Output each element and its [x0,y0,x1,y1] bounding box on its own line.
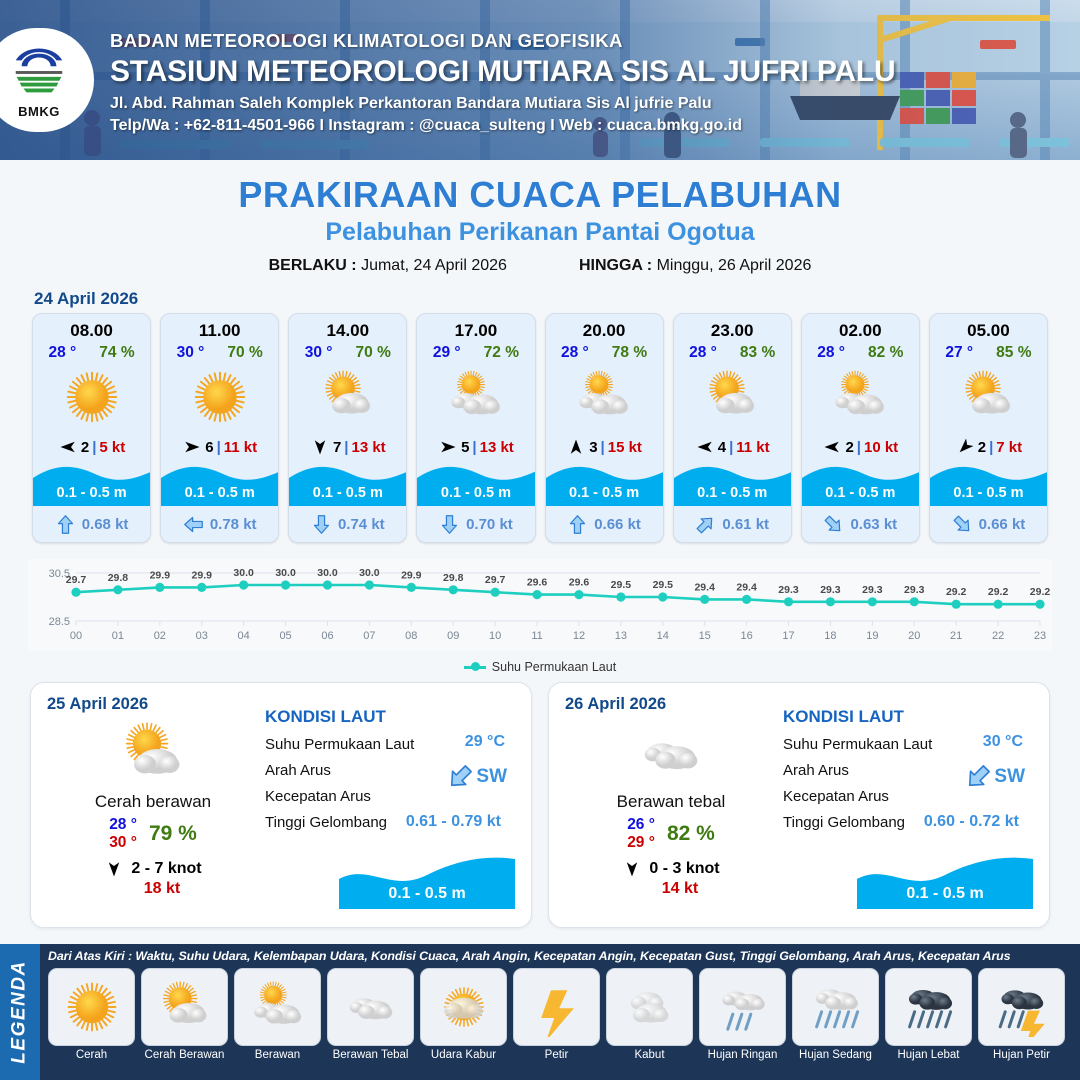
wind-direction-icon [822,438,842,456]
svg-text:16: 16 [740,630,752,642]
card-gust-speed: 11 kt [736,439,769,456]
chart-legend: Suhu Permukaan Laut [28,660,1052,674]
day-temp-block: 28 ° 30 ° 79 % [47,816,259,852]
card-wave-band: 0.1 - 0.5 m [674,462,791,506]
svg-text:29.4: 29.4 [694,581,715,593]
card-time: 02.00 [802,314,919,341]
card-wave-height: 0.1 - 0.5 m [33,485,150,501]
legend-item: Hujan Lebat [885,968,972,1061]
legend-item-label: Cerah [48,1049,135,1061]
forecast-card: 23.00 28 ° 83 % 4 | 11 kt 0.1 - 0.5 m [673,313,792,543]
day-wind-range: 0 - 3 knot [649,860,719,878]
card-temperature: 28 ° [817,344,845,362]
card-humidity: 70 % [227,344,262,362]
legend-item-label: Kabut [606,1049,693,1061]
legend-item-label: Berawan [234,1049,321,1061]
card-wind-speed: 2 [845,439,853,456]
sst-value: 29 °C [465,733,505,751]
card-wave-band: 0.1 - 0.5 m [33,462,150,506]
card-wind-row: 2 | 10 kt [802,432,919,462]
card-time: 05.00 [930,314,1047,341]
card-wave-height: 0.1 - 0.5 m [930,485,1047,501]
card-wave-height: 0.1 - 0.5 m [546,485,663,501]
daily-forecast-panel: 26 April 2026 Berawan tebal 26 ° 29 ° 82… [548,682,1050,928]
card-temp-humidity: 29 ° 72 % [417,341,534,362]
card-wind-speed: 7 [333,439,341,456]
legend-note: Dari Atas Kiri : Waktu, Suhu Udara, Kele… [48,949,1074,963]
org-name: BADAN METEOROLOGI KLIMATOLOGI DAN GEOFIS… [110,30,895,52]
legend-item: Cerah Berawan [141,968,228,1061]
card-current-speed: 0.70 kt [466,516,513,533]
forecast-card: 02.00 28 ° 82 % 2 | 10 kt 0.1 - 0.5 m [801,313,920,543]
wind-direction-icon [622,860,642,878]
svg-text:29.8: 29.8 [443,572,464,584]
legend-item-icon [141,968,228,1046]
card-humidity: 72 % [484,344,519,362]
svg-text:02: 02 [154,630,166,642]
card-time: 11.00 [161,314,278,341]
legend-item-icon [978,968,1065,1046]
card-weather-icon [417,362,534,432]
svg-text:28.5: 28.5 [49,616,70,628]
svg-text:10: 10 [489,630,501,642]
daily-forecast-panel: 25 April 2026 Cerah berawan 28 ° 30 ° 79… [30,682,532,928]
current-dir-value-group: SW [964,763,1025,791]
wind-direction-icon [566,438,586,456]
svg-text:05: 05 [279,630,291,642]
card-time: 08.00 [33,314,150,341]
legend-item-label: Hujan Lebat [885,1049,972,1061]
card-wind-row: 2 | 5 kt [33,432,150,462]
card-wind-speed: 2 [978,439,986,456]
svg-text:14: 14 [657,630,669,642]
card-current-row: 0.66 kt [930,506,1047,542]
card-weather-icon [802,362,919,432]
page-title-block: PRAKIRAAN CUACA PELABUHAN Pelabuhan Peri… [0,174,1080,275]
card-wind-separator: | [472,439,476,456]
day-wave-height: 0.1 - 0.5 m [857,885,1033,903]
svg-text:00: 00 [70,630,82,642]
svg-text:30.0: 30.0 [359,567,380,579]
legend-label: Suhu Permukaan Laut [492,660,616,674]
card-wind-row: 5 | 13 kt [417,432,534,462]
card-wind-separator: | [857,439,861,456]
day-wave-height: 0.1 - 0.5 m [339,885,515,903]
station-address: Jl. Abd. Rahman Saleh Komplek Perkantora… [110,95,895,113]
card-temp-humidity: 27 ° 85 % [930,341,1047,362]
hourly-forecast-cards: 08.00 28 ° 74 % 2 | 5 kt 0.1 - 0.5 m [0,313,1080,543]
card-wave-height: 0.1 - 0.5 m [289,485,406,501]
svg-text:15: 15 [699,630,711,642]
card-current-row: 0.70 kt [417,506,534,542]
card-current-speed: 0.66 kt [594,516,641,533]
day-wave-band: 0.1 - 0.5 m [339,853,515,909]
wind-direction-icon [695,438,715,456]
svg-text:01: 01 [112,630,124,642]
forecast-date-label: 24 April 2026 [34,289,1080,309]
day-condition: Cerah berawan [47,792,259,812]
card-wave-band: 0.1 - 0.5 m [930,462,1047,506]
current-direction-icon [446,763,474,791]
current-direction-icon [823,514,844,535]
day-weather-icon [565,718,777,790]
svg-text:29.3: 29.3 [820,584,841,596]
card-gust-speed: 15 kt [608,439,642,456]
hingga-group: HINGGA : Minggu, 26 April 2026 [579,257,811,275]
day-panel-left: 26 April 2026 Berawan tebal 26 ° 29 ° 82… [565,695,777,913]
day-temp-max: 30 ° [109,834,137,852]
card-wind-speed: 3 [589,439,597,456]
sea-condition-title: KONDISI LAUT [783,707,1033,727]
day-temp-block: 26 ° 29 ° 82 % [565,816,777,852]
header-text-block: BADAN METEOROLOGI KLIMATOLOGI DAN GEOFIS… [110,30,895,135]
svg-text:12: 12 [573,630,585,642]
card-current-speed: 0.61 kt [722,516,769,533]
day-wind-range: 2 - 7 knot [131,860,201,878]
card-temp-humidity: 30 ° 70 % [289,341,406,362]
card-weather-icon [546,362,663,432]
card-gust-speed: 13 kt [351,439,385,456]
forecast-card: 11.00 30 ° 70 % 6 | 11 kt 0.1 - 0.5 m [160,313,279,543]
current-direction-icon [567,514,588,535]
day-date: 26 April 2026 [565,695,777,714]
card-time: 23.00 [674,314,791,341]
day-wind-row: 0 - 3 knot [565,860,777,878]
card-temp-humidity: 28 ° 82 % [802,341,919,362]
legend-tab-label: LEGENDA [9,960,31,1063]
day-wind-row: 2 - 7 knot [47,860,259,878]
card-humidity: 78 % [612,344,647,362]
wind-direction-icon [955,438,975,456]
svg-text:04: 04 [238,630,250,642]
svg-text:13: 13 [615,630,627,642]
legend-item-icon [327,968,414,1046]
card-wind-separator: | [601,439,605,456]
current-dir-value-group: SW [446,763,507,791]
card-wind-separator: | [989,439,993,456]
svg-text:29.9: 29.9 [401,569,422,581]
svg-text:29.5: 29.5 [653,579,674,591]
card-gust-speed: 7 kt [996,439,1022,456]
card-weather-icon [930,362,1047,432]
card-wave-height: 0.1 - 0.5 m [674,485,791,501]
card-humidity: 82 % [868,344,903,362]
card-temp-humidity: 30 ° 70 % [161,341,278,362]
card-wind-separator: | [217,439,221,456]
svg-text:29.2: 29.2 [1030,586,1051,598]
sst-value: 30 °C [983,733,1023,751]
svg-text:29.3: 29.3 [904,584,925,596]
svg-text:29.2: 29.2 [988,586,1009,598]
card-wind-separator: | [92,439,96,456]
card-wind-separator: | [729,439,733,456]
card-current-row: 0.78 kt [161,506,278,542]
svg-text:19: 19 [866,630,878,642]
svg-text:29.4: 29.4 [736,581,757,593]
card-temperature: 28 ° [689,344,717,362]
card-weather-icon [33,362,150,432]
card-weather-icon [289,362,406,432]
validity-row: BERLAKU : Jumat, 24 April 2026 HINGGA : … [0,257,1080,275]
current-direction-icon [183,514,204,535]
card-current-row: 0.68 kt [33,506,150,542]
card-weather-icon [674,362,791,432]
card-wind-row: 2 | 7 kt [930,432,1047,462]
page-subtitle: Pelabuhan Perikanan Pantai Ogotua [0,218,1080,247]
card-current-row: 0.74 kt [289,506,406,542]
day-temp-min: 26 ° [627,816,655,834]
bmkg-logo-mark [8,41,70,103]
current-direction-icon [695,514,716,535]
legend-item: Hujan Ringan [699,968,786,1061]
svg-text:29.8: 29.8 [108,572,129,584]
svg-text:29.7: 29.7 [66,574,87,586]
day-date: 25 April 2026 [47,695,259,714]
svg-text:11: 11 [531,630,542,642]
wind-direction-icon [438,438,458,456]
day-panel-right: KONDISI LAUT Suhu Permukaan Laut Arah Ar… [777,695,1033,913]
card-gust-speed: 11 kt [224,439,257,456]
wind-direction-icon [310,438,330,456]
forecast-card: 08.00 28 ° 74 % 2 | 5 kt 0.1 - 0.5 m [32,313,151,543]
card-time: 17.00 [417,314,534,341]
legend-item-icon [48,968,135,1046]
card-wind-speed: 5 [461,439,469,456]
legend-item-label: Berawan Tebal [327,1049,414,1061]
legend-item: Petir [513,968,600,1061]
card-temperature: 30 ° [177,344,205,362]
card-gust-speed: 5 kt [99,439,125,456]
svg-text:03: 03 [196,630,208,642]
legend-item-label: Hujan Sedang [792,1049,879,1061]
card-humidity: 74 % [99,344,134,362]
svg-text:29.6: 29.6 [527,577,548,589]
card-wave-band: 0.1 - 0.5 m [546,462,663,506]
svg-text:06: 06 [321,630,333,642]
day-humidity: 82 % [667,822,715,846]
card-humidity: 70 % [356,344,391,362]
card-current-speed: 0.78 kt [210,516,257,533]
svg-text:30.0: 30.0 [275,567,296,579]
card-time: 14.00 [289,314,406,341]
card-wind-separator: | [344,439,348,456]
bmkg-logo-text: BMKG [18,104,60,119]
header-banner: BMKG BADAN METEOROLOGI KLIMATOLOGI DAN G… [0,0,1080,160]
card-current-speed: 0.63 kt [850,516,897,533]
day-temp-max: 29 ° [627,834,655,852]
card-current-speed: 0.68 kt [82,516,129,533]
forecast-card: 14.00 30 ° 70 % 7 | 13 kt 0.1 - 0.5 m [288,313,407,543]
legend-item-label: Cerah Berawan [141,1049,228,1061]
legend-marker-icon [464,666,486,669]
card-current-row: 0.66 kt [546,506,663,542]
card-current-row: 0.63 kt [802,506,919,542]
card-wave-band: 0.1 - 0.5 m [417,462,534,506]
card-wind-speed: 2 [81,439,89,456]
card-temperature: 27 ° [945,344,973,362]
card-temperature: 28 ° [561,344,589,362]
card-wave-height: 0.1 - 0.5 m [802,485,919,501]
card-temp-humidity: 28 ° 83 % [674,341,791,362]
svg-text:09: 09 [447,630,459,642]
day-temp-range: 28 ° 30 ° [109,816,137,852]
day-gust: 14 kt [565,880,777,898]
card-gust-speed: 13 kt [480,439,514,456]
wind-direction-icon [104,860,124,878]
day-wave-band: 0.1 - 0.5 m [857,853,1033,909]
card-weather-icon [161,362,278,432]
card-humidity: 83 % [740,344,775,362]
legend-item: Hujan Petir [978,968,1065,1061]
station-name: STASIUN METEOROLOGI MUTIARA SIS AL JUFRI… [110,55,895,89]
svg-text:29.5: 29.5 [611,579,632,591]
svg-text:17: 17 [782,630,794,642]
berlaku-value: Jumat, 24 April 2026 [361,257,507,274]
forecast-card: 17.00 29 ° 72 % 5 | 13 kt 0.1 - 0.5 m [416,313,535,543]
svg-text:30.0: 30.0 [233,567,254,579]
svg-text:29.3: 29.3 [862,584,883,596]
legend-item-icon [885,968,972,1046]
current-dir-value: SW [476,766,507,788]
card-wave-band: 0.1 - 0.5 m [289,462,406,506]
legend-item-label: Hujan Ringan [699,1049,786,1061]
berlaku-label: BERLAKU : [269,257,357,274]
svg-text:29.6: 29.6 [569,577,590,589]
legend-item-icon [513,968,600,1046]
svg-text:29.7: 29.7 [485,574,506,586]
sea-condition-title: KONDISI LAUT [265,707,515,727]
day-temp-range: 26 ° 29 ° [627,816,655,852]
legend-item: Kabut [606,968,693,1061]
svg-text:07: 07 [363,630,375,642]
card-wind-row: 7 | 13 kt [289,432,406,462]
page-title: PRAKIRAAN CUACA PELABUHAN [0,174,1080,216]
card-wind-row: 4 | 11 kt [674,432,791,462]
day-weather-icon [47,718,259,790]
card-current-speed: 0.74 kt [338,516,385,533]
card-wave-height: 0.1 - 0.5 m [161,485,278,501]
svg-text:29.3: 29.3 [778,584,799,596]
current-direction-icon [55,514,76,535]
card-wind-speed: 6 [205,439,213,456]
hingga-label: HINGGA : [579,257,652,274]
svg-text:29.2: 29.2 [946,586,967,598]
forecast-card: 20.00 28 ° 78 % 3 | 15 kt 0.1 - 0.5 m [545,313,664,543]
card-temperature: 29 ° [433,344,461,362]
card-temp-humidity: 28 ° 74 % [33,341,150,362]
legend-tab: LEGENDA [0,944,40,1080]
card-gust-speed: 10 kt [864,439,898,456]
legend-footer: LEGENDA Dari Atas Kiri : Waktu, Suhu Uda… [0,944,1080,1080]
legend-item-icon [234,968,321,1046]
current-dir-value: SW [994,766,1025,788]
berlaku-group: BERLAKU : Jumat, 24 April 2026 [269,257,507,275]
card-current-row: 0.61 kt [674,506,791,542]
daily-forecast-panels: 25 April 2026 Cerah berawan 28 ° 30 ° 79… [0,674,1080,928]
legend-item: Berawan [234,968,321,1061]
day-condition: Berawan tebal [565,792,777,812]
current-direction-icon [952,514,973,535]
forecast-card: 05.00 27 ° 85 % 2 | 7 kt 0.1 - 0.5 m [929,313,1048,543]
current-direction-icon [311,514,332,535]
card-time: 20.00 [546,314,663,341]
legend-item-label: Udara Kabur [420,1049,507,1061]
day-panel-left: 25 April 2026 Cerah berawan 28 ° 30 ° 79… [47,695,259,913]
current-speed-value: 0.60 - 0.72 kt [924,813,1019,831]
wind-direction-icon [182,438,202,456]
legend-item: Udara Kabur [420,968,507,1061]
current-speed-value: 0.61 - 0.79 kt [406,813,501,831]
hingga-value: Minggu, 26 April 2026 [657,257,812,274]
card-temperature: 28 ° [49,344,77,362]
card-humidity: 85 % [996,344,1031,362]
svg-text:23: 23 [1034,630,1046,642]
card-wave-height: 0.1 - 0.5 m [417,485,534,501]
svg-text:22: 22 [992,630,1004,642]
svg-text:29.9: 29.9 [150,569,171,581]
legend-item: Cerah [48,968,135,1061]
legend-item: Berawan Tebal [327,968,414,1061]
card-wind-speed: 4 [718,439,726,456]
legend-item-icon [699,968,786,1046]
legend-body: Dari Atas Kiri : Waktu, Suhu Udara, Kele… [40,944,1080,1080]
card-temp-humidity: 28 ° 78 % [546,341,663,362]
current-direction-icon [439,514,460,535]
card-current-speed: 0.66 kt [979,516,1026,533]
station-contact: Telp/Wa : +62-811-4501-966 I Instagram :… [110,117,895,135]
card-temperature: 30 ° [305,344,333,362]
legend-item-list: Cerah Cerah Berawan Berawan Berawan T [48,968,1074,1061]
current-direction-icon [964,763,992,791]
svg-text:18: 18 [824,630,836,642]
svg-text:30.0: 30.0 [317,567,338,579]
svg-text:08: 08 [405,630,417,642]
legend-item-icon [792,968,879,1046]
day-humidity: 79 % [149,822,197,846]
day-panel-right: KONDISI LAUT Suhu Permukaan Laut Arah Ar… [259,695,515,913]
wind-direction-icon [58,438,78,456]
legend-item-icon [606,968,693,1046]
card-wind-row: 6 | 11 kt [161,432,278,462]
day-temp-min: 28 ° [109,816,137,834]
legend-item-icon [420,968,507,1046]
sst-chart-svg: 28.530.500010203040506070809101112131415… [28,559,1052,651]
card-wave-band: 0.1 - 0.5 m [802,462,919,506]
day-gust: 18 kt [47,880,259,898]
legend-item-label: Hujan Petir [978,1049,1065,1061]
svg-text:20: 20 [908,630,920,642]
card-wind-row: 3 | 15 kt [546,432,663,462]
legend-item: Hujan Sedang [792,968,879,1061]
card-wave-band: 0.1 - 0.5 m [161,462,278,506]
legend-item-label: Petir [513,1049,600,1061]
svg-text:21: 21 [950,630,962,642]
svg-text:29.9: 29.9 [192,569,213,581]
sst-chart: 28.530.500010203040506070809101112131415… [28,559,1052,674]
